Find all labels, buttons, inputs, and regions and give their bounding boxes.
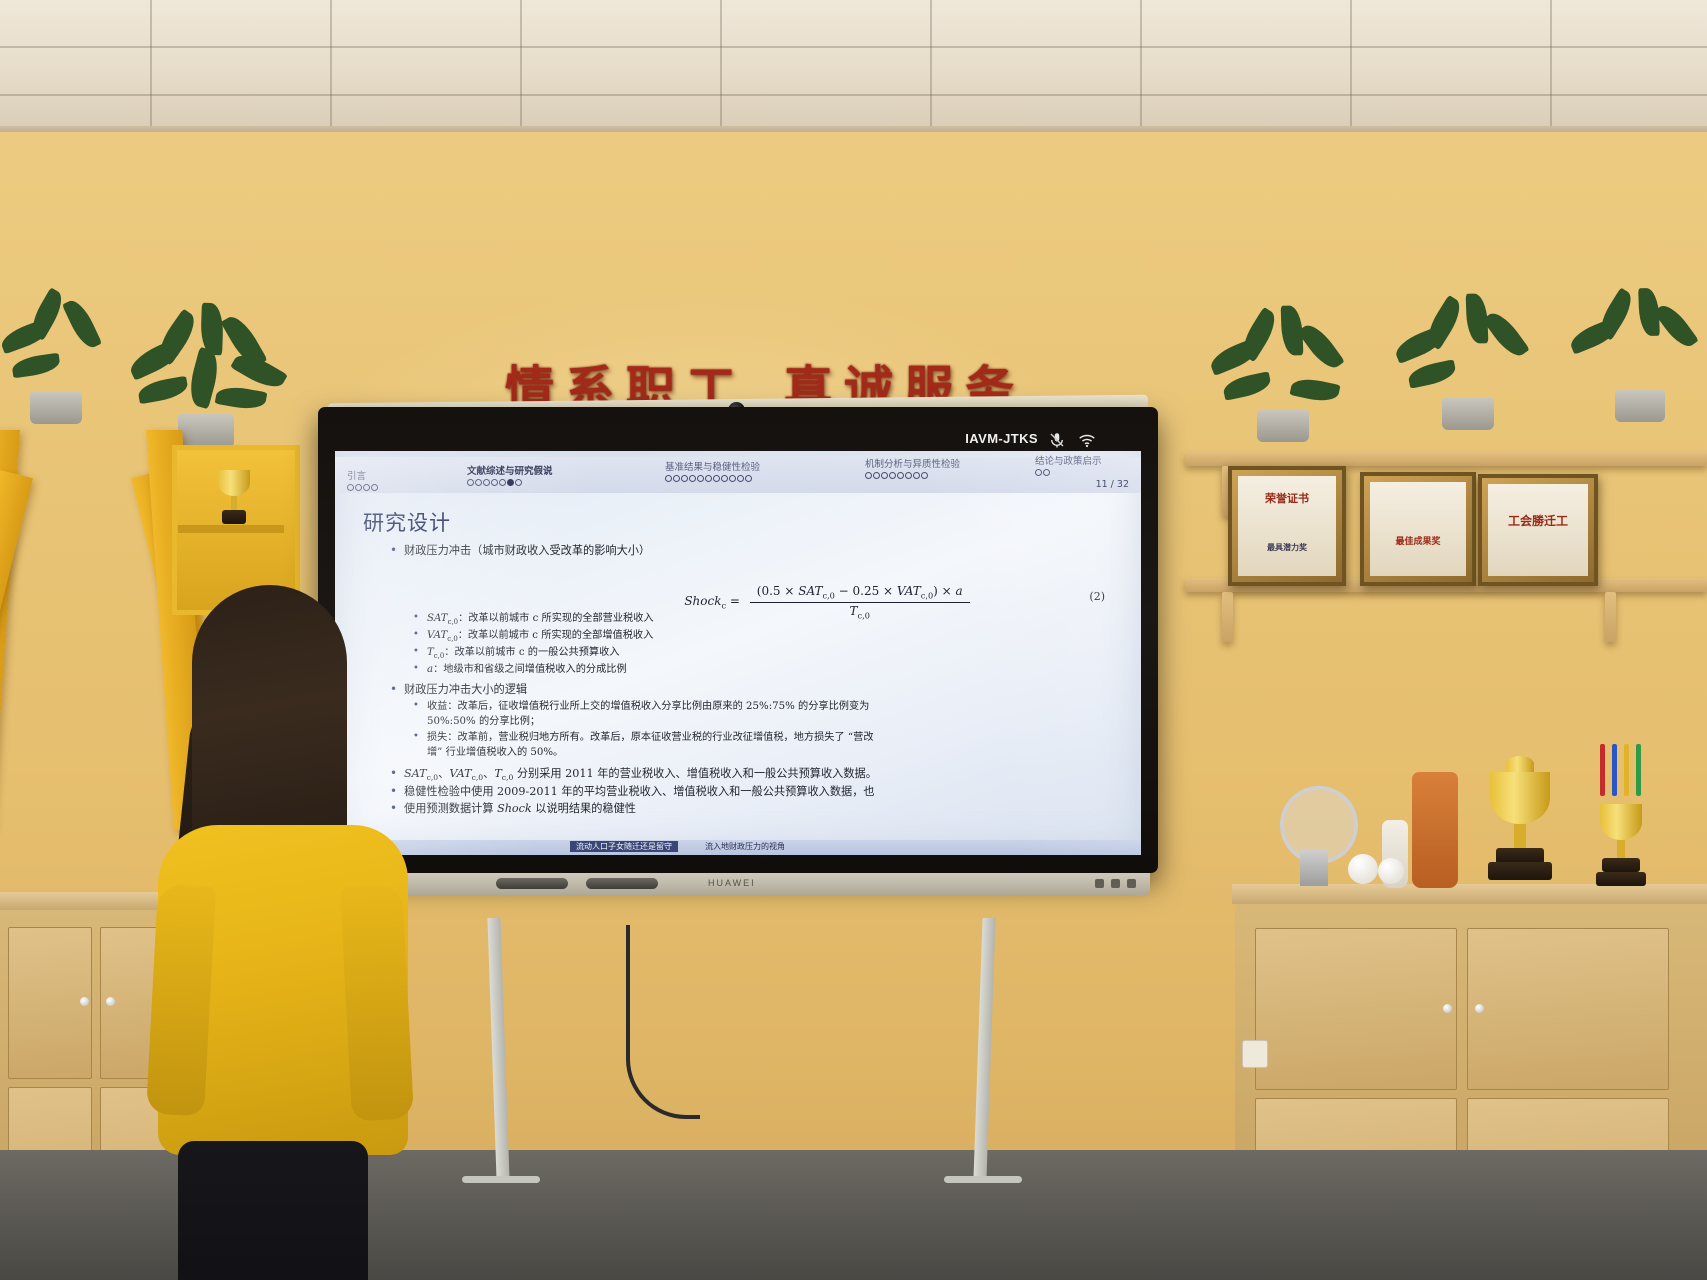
award-ribbon-2 [1612,744,1617,796]
presenter [150,585,410,1280]
nav-section-0-dots [347,484,378,491]
footer-subsection: 流入地财政压力的视角 [705,841,785,852]
desk-fan-base [1300,850,1328,886]
nav-section-3-dots [865,472,960,479]
bullet-robustness-cont: 使用预测数据计算 Shock 以说明结果的稳健性 [387,801,1127,817]
def-sat: SATc,0：改革以前城市 c 所实现的全部营业税收入 [387,612,1127,628]
wall-socket [1242,1040,1268,1068]
interactive-display[interactable]: IAVM-JTKS 引言 文献综 [318,407,1158,923]
award-frame-3: 工会勝迁工 [1478,474,1598,586]
logic-loss-line2: 增” 行业增值税收入的 50%。 [387,746,1127,760]
award-frame-2: 最佳成果奖 [1360,472,1476,586]
def-a-text: ：地级市和省级之间增值税收入的分成比例 [433,664,627,675]
display-screen[interactable]: 引言 文献综述与研究假说 基准结果与稳健性检验 [335,451,1141,855]
decor-ball-1 [1348,854,1378,884]
nav-section-1-label: 文献综述与研究假说 [467,463,553,477]
slide-title: 研究设计 [363,507,451,537]
plant-right-1 [1205,318,1360,468]
beamer-navigation-bar: 引言 文献综述与研究假说 基准结果与稳健性检验 [335,457,1141,493]
display-button-1[interactable] [1095,879,1104,888]
bullet-shock-def: 财政压力冲击（城市财政收入受改革的影响大小） [387,543,1127,559]
award-ribbon-3 [1624,744,1629,796]
logic-loss-line1: 损失：改革前，营业税归地方所有。改革后，原本征收营业税的行业改征增值税，地方损失… [387,731,1127,745]
equation-lhs: Shockc = [684,594,743,610]
footer-section: 流动人口子女随迁还是留守 [570,841,678,852]
def-vat-text: ：改革以前城市 c 所实现的全部增值税收入 [458,630,654,641]
nav-section-3-label: 机制分析与异质性检验 [865,456,960,470]
vase [1412,772,1458,888]
def-sat-text: ：改革以前城市 c 所实现的全部营业税收入 [458,613,654,624]
decor-ball-2 [1378,858,1404,884]
nav-section-0[interactable]: 引言 [347,468,378,491]
equation-numerator: (0.5 × SATc,0 − 0.25 × VATc,0) × a [750,584,970,602]
stand-foot-right [944,1176,1022,1183]
equation-number: (2) [1089,590,1105,603]
display-brand-label: IAVM-JTKS [965,431,1038,446]
bullet-robustness: 稳健性检验中使用 2009-2011 年的平均营业税收入、增值税收入和一般公共预… [387,784,1127,800]
nav-section-4-dots [1035,469,1102,476]
wifi-icon[interactable] [1078,431,1096,449]
plant-left-2 [0,300,120,450]
trophy-large [1472,750,1568,890]
display-button-3[interactable] [1127,879,1136,888]
ceiling [0,0,1707,132]
def-t: Tc,0：改革以前城市 c 的一般公共预算收入 [387,646,1127,662]
award-ribbon-4 [1636,744,1641,796]
def-vat: VATc,0：改革以前城市 c 所实现的全部增值税收入 [387,629,1127,645]
speaker-left [496,878,568,889]
speaker-right [586,878,658,889]
logic-gain-line2: 50%:50% 的分享比例； [387,715,1127,729]
award-frame-1-sub: 最具潜力奖 [1238,542,1336,553]
microphone-icon[interactable] [1048,431,1066,449]
plant-right-3 [1565,300,1707,450]
nav-section-0-label: 引言 [347,468,378,482]
slide-content: 研究设计 财政压力冲击（城市财政收入受改革的影响大小） Shockc = (0.… [335,497,1141,855]
stand-foot-left [462,1176,540,1183]
bullet-data-2011: SATc,0、VATc,0、Tc,0 分别采用 2011 年的营业税收入、增值税… [387,766,1127,783]
logic-gain-line1: 收益：改革后，征收增值税行业所上交的增值税收入分享比例由原来的 25%:75% … [387,700,1127,714]
def-a: a：地级市和省级之间增值税收入的分成比例 [387,663,1127,677]
display-button-row[interactable] [1095,879,1136,888]
trophy-small [1588,790,1654,890]
bullet-logic-heading: 财政压力冲击大小的逻辑 [387,682,1127,698]
room-scene: 情 系 职 工 真 诚 服 务 [0,0,1707,1280]
nav-section-2-label: 基准结果与稳健性检验 [665,459,760,473]
award-frame-1: 荣誉证书 最具潜力奖 [1228,466,1346,586]
nav-section-4[interactable]: 结论与政策启示 [1035,453,1102,476]
shelf-bracket-2 [1222,592,1233,642]
def-t-text: ：改革以前城市 c 的一般公共预算收入 [444,647,619,658]
sleeve-left [146,884,216,1117]
nav-section-4-label: 结论与政策启示 [1035,453,1102,467]
trousers [178,1141,368,1280]
nav-section-2[interactable]: 基准结果与稳健性检验 [665,459,760,482]
display-bottom-logo: HUAWEI [708,878,756,888]
sleeve-right [340,884,414,1122]
nav-section-2-dots [665,475,760,482]
slide-body: 财政压力冲击（城市财政收入受改革的影响大小） Shockc = (0.5 × S… [387,543,1127,818]
award-frame-1-title: 荣誉证书 [1238,490,1336,506]
shelf-trophy [214,470,254,528]
nav-section-3[interactable]: 机制分析与异质性检验 [865,456,960,479]
award-frame-2-title: 最佳成果奖 [1370,534,1466,547]
award-frame-3-title: 工会勝迁工 [1488,512,1588,529]
slide-footer: 张训常 何炜 流动人口子女随迁还是留守 流入地财政压力的视角 [335,840,1141,855]
shelf-bracket-3 [1605,592,1616,642]
nav-section-1[interactable]: 文献综述与研究假说 [467,463,553,486]
award-ribbon-1 [1600,744,1605,796]
wall-shelf-upper [1185,452,1707,466]
slide-page-number: 11 / 32 [1096,479,1129,490]
plant-right-2 [1390,306,1545,456]
power-cable [626,925,700,1119]
nav-section-1-dots [467,479,553,486]
display-button-2[interactable] [1111,879,1120,888]
